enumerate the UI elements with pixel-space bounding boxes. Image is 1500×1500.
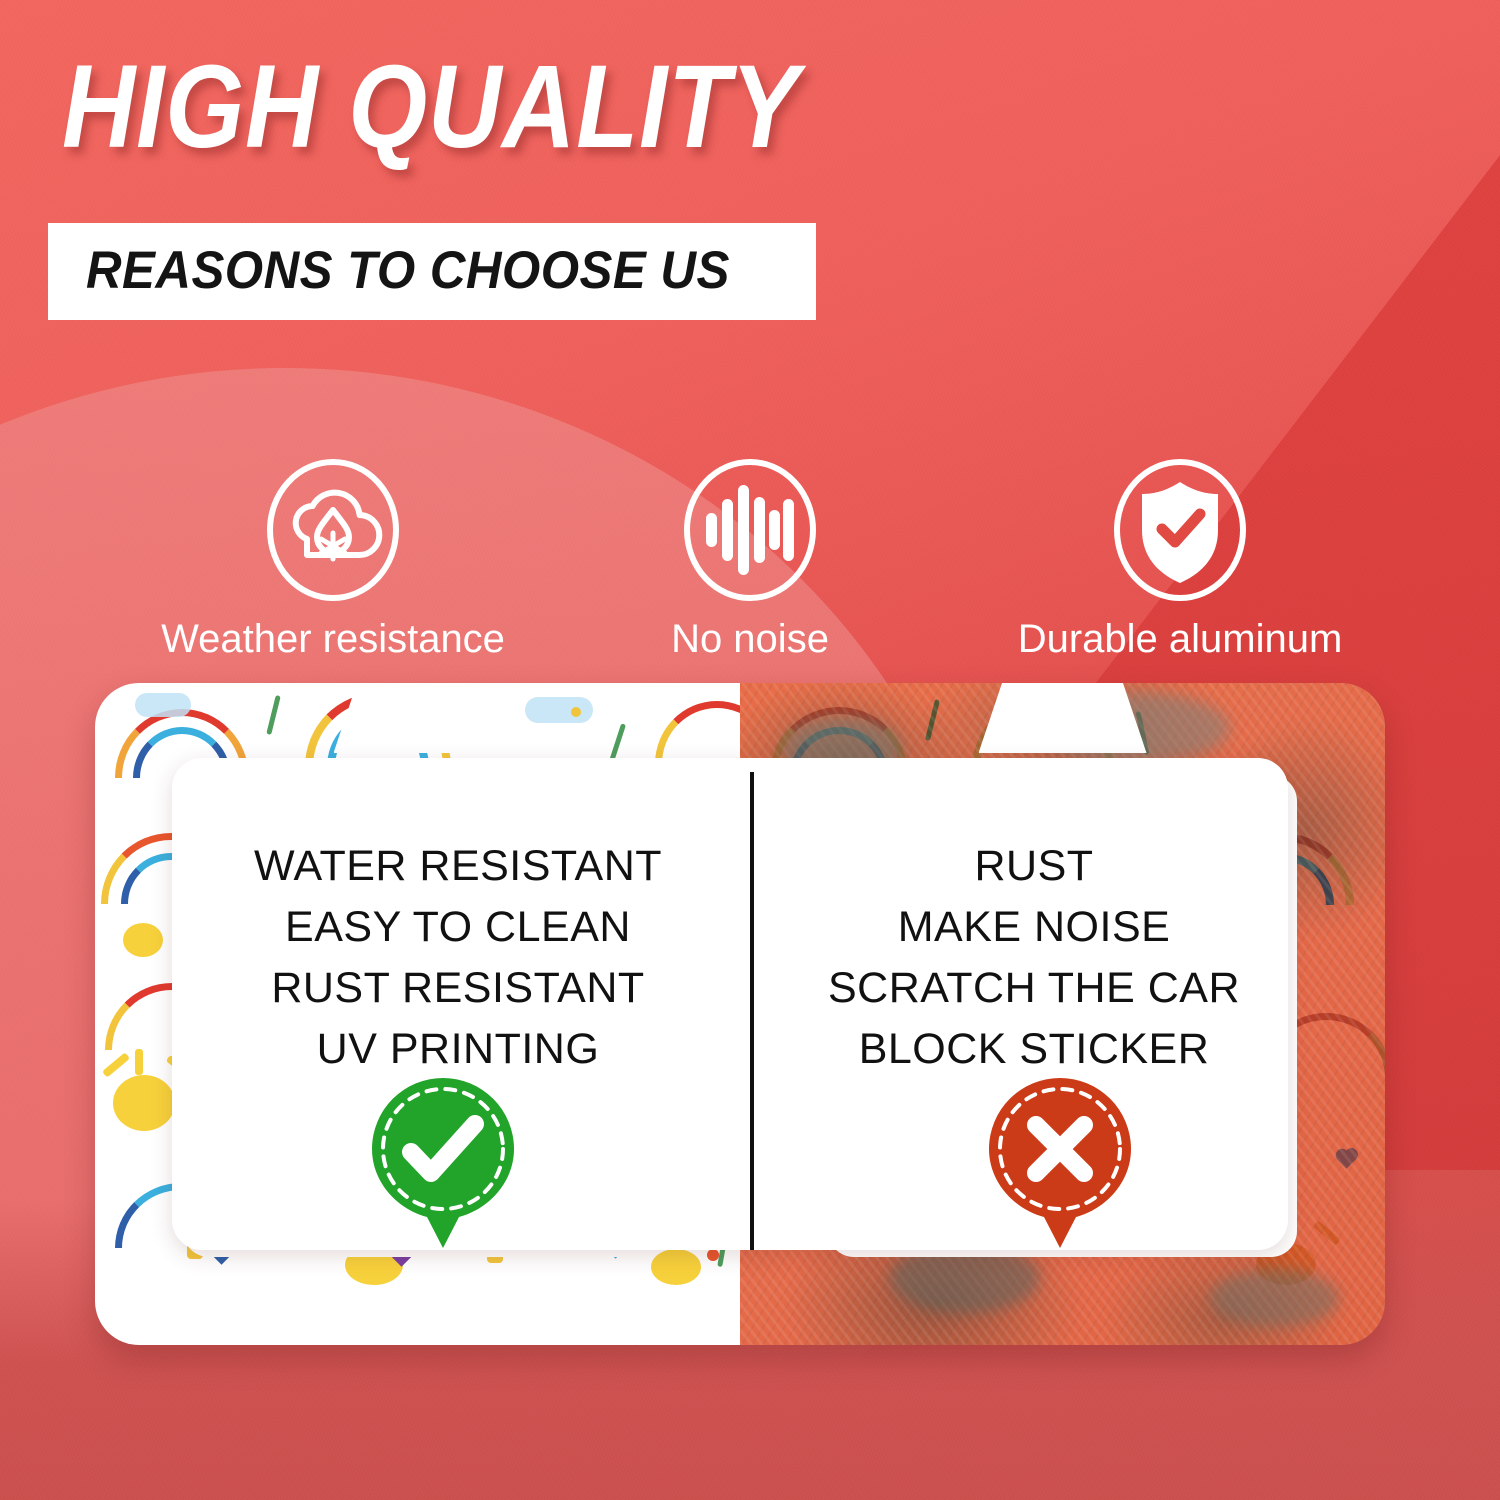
feature-durable-aluminum: Durable aluminum [980,455,1380,662]
feature-weather-resistance: Weather resistance [143,455,523,662]
cross-pin-icon [985,1074,1135,1252]
subtitle-banner: REASONS TO CHOOSE US [48,223,816,320]
sound-wave-icon [680,455,820,605]
list-item: MAKE NOISE [756,897,1312,958]
feature-row: Weather resistance No noise [0,455,1500,670]
pros-list: WATER RESISTANT EASY TO CLEAN RUST RESIS… [180,758,736,1080]
list-item: SCRATCH THE CAR [756,958,1312,1019]
feature-label: No noise [560,617,940,662]
feature-label: Weather resistance [143,617,523,662]
feature-no-noise: No noise [560,455,940,662]
page-title: HIGH QUALITY [62,48,800,166]
list-item: UV PRINTING [180,1019,736,1080]
list-item: RUST [756,836,1312,897]
check-pin-icon [368,1074,518,1252]
product-infographic: HIGH QUALITY REASONS TO CHOOSE US Weathe… [0,0,1500,1500]
mount-hole-new [387,693,449,721]
shield-check-icon [1110,455,1250,605]
cloud-rain-snow-icon [263,455,403,605]
panel-divider [750,772,754,1250]
rust-patch [1210,1269,1340,1327]
list-item: WATER RESISTANT [180,836,736,897]
list-item: RUST RESISTANT [180,958,736,1019]
list-item: BLOCK STICKER [756,1019,1312,1080]
mount-hole-weathered [1032,693,1094,721]
feature-label: Durable aluminum [980,617,1380,662]
subtitle-text: REASONS TO CHOOSE US [86,240,730,301]
list-item: EASY TO CLEAN [180,897,736,958]
cons-list: RUST MAKE NOISE SCRATCH THE CAR BLOCK ST… [756,758,1312,1080]
